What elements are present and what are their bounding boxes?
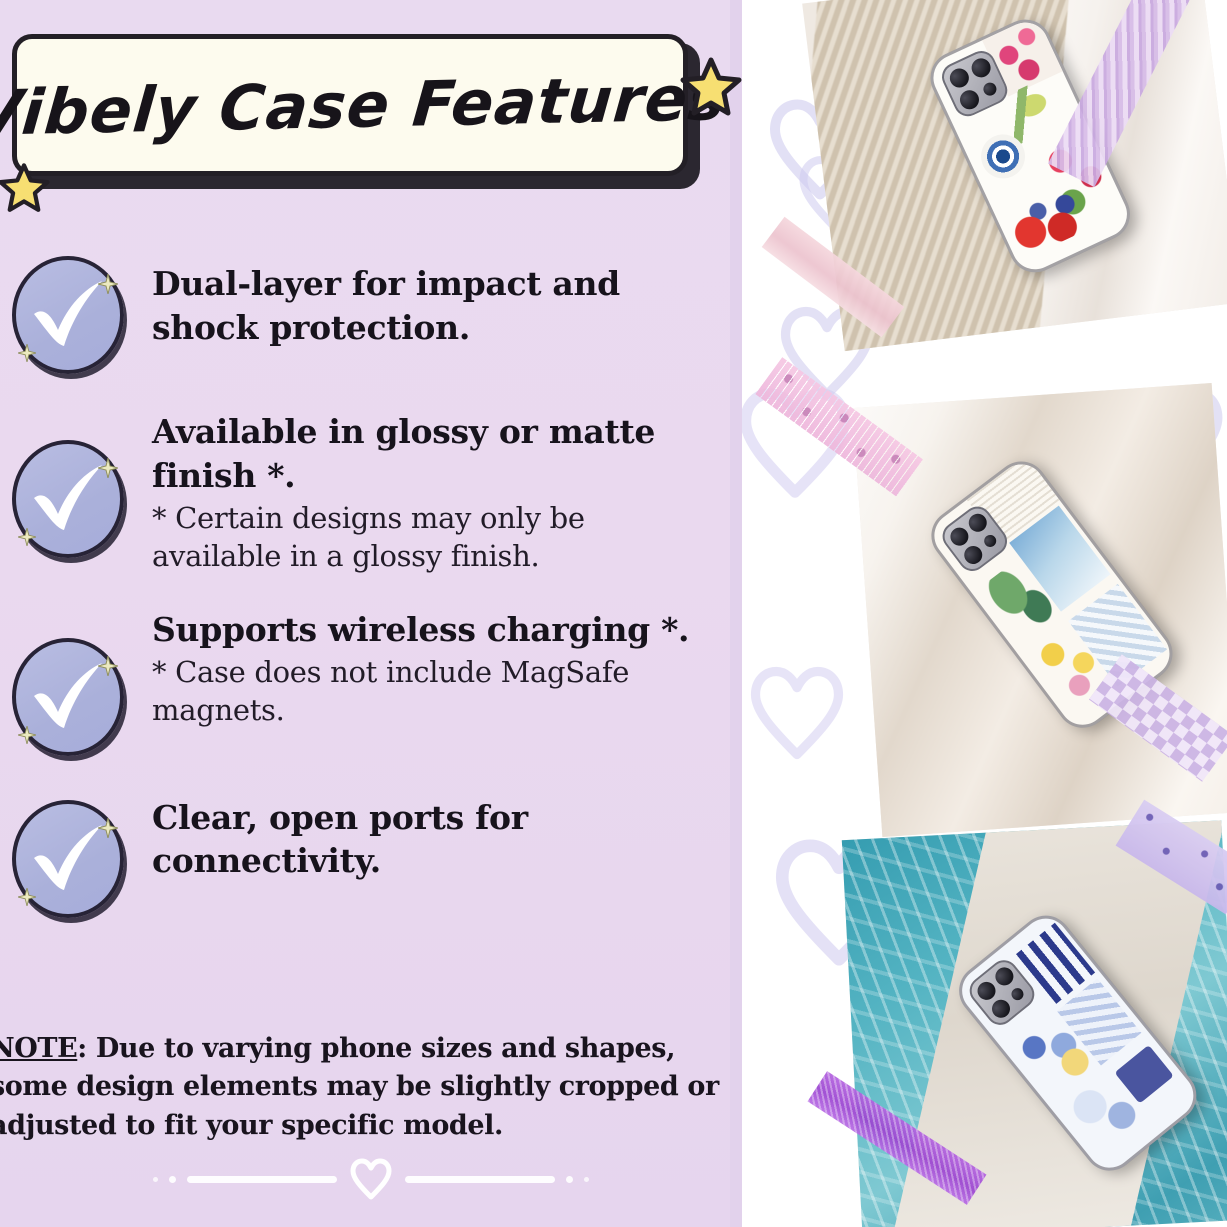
decorative-divider (0, 1149, 742, 1209)
divider-dot (566, 1176, 573, 1183)
divider-dot (584, 1177, 589, 1182)
check-circle-icon (12, 440, 130, 564)
feature-item: Clear, open ports for connectivity. (0, 790, 742, 924)
sparkle-icon (98, 458, 118, 478)
check-circle-icon (12, 256, 130, 380)
divider-dot (169, 1176, 176, 1183)
features-panel: Vibely Case Features (0, 0, 742, 1227)
gallery-panel (742, 0, 1227, 1227)
divider-line (187, 1176, 337, 1183)
sparkle-icon (98, 274, 118, 294)
sparkle-icon (18, 726, 36, 744)
feature-item: Dual-layer for impact and shock protecti… (0, 256, 742, 380)
page-title: Vibely Case Features (0, 61, 729, 150)
sparkle-icon (18, 888, 36, 906)
sparkle-icon (98, 818, 118, 838)
note-block: NOTE: Due to varying phone sizes and sha… (0, 1030, 720, 1145)
feature-text: Clear, open ports for connectivity. (152, 796, 712, 883)
sparkle-icon (18, 344, 36, 362)
check-circle-icon (12, 638, 130, 762)
feature-text: Supports wireless charging *. (152, 608, 712, 652)
divider-line (405, 1176, 555, 1183)
title-card: Vibely Case Features (12, 34, 702, 189)
feature-list: Dual-layer for impact and shock protecti… (0, 246, 742, 938)
feature-text: Dual-layer for impact and shock protecti… (152, 262, 712, 349)
note-separator: : (77, 1033, 96, 1064)
divider-dot (153, 1177, 158, 1182)
feature-item: Supports wireless charging *. * Case doe… (0, 602, 742, 762)
poster-canvas: Vibely Case Features (0, 0, 1227, 1227)
sparkle-icon (98, 656, 118, 676)
feature-text: Available in glossy or matte finish *. (152, 410, 712, 497)
heart-outline-icon (348, 1156, 394, 1202)
phone-case-photo-blue-sticker (842, 820, 1227, 1227)
heart-outline-icon (742, 660, 852, 766)
feature-item: Available in glossy or matte finish *. *… (0, 404, 742, 576)
note-label: NOTE (0, 1033, 77, 1064)
feature-subnote: * Certain designs may only be available … (152, 499, 712, 576)
check-circle-icon (12, 800, 130, 924)
note-body: Due to varying phone sizes and shapes, s… (0, 1033, 719, 1141)
feature-subnote: * Case does not include MagSafe magnets. (152, 653, 712, 730)
sparkle-icon (18, 528, 36, 546)
